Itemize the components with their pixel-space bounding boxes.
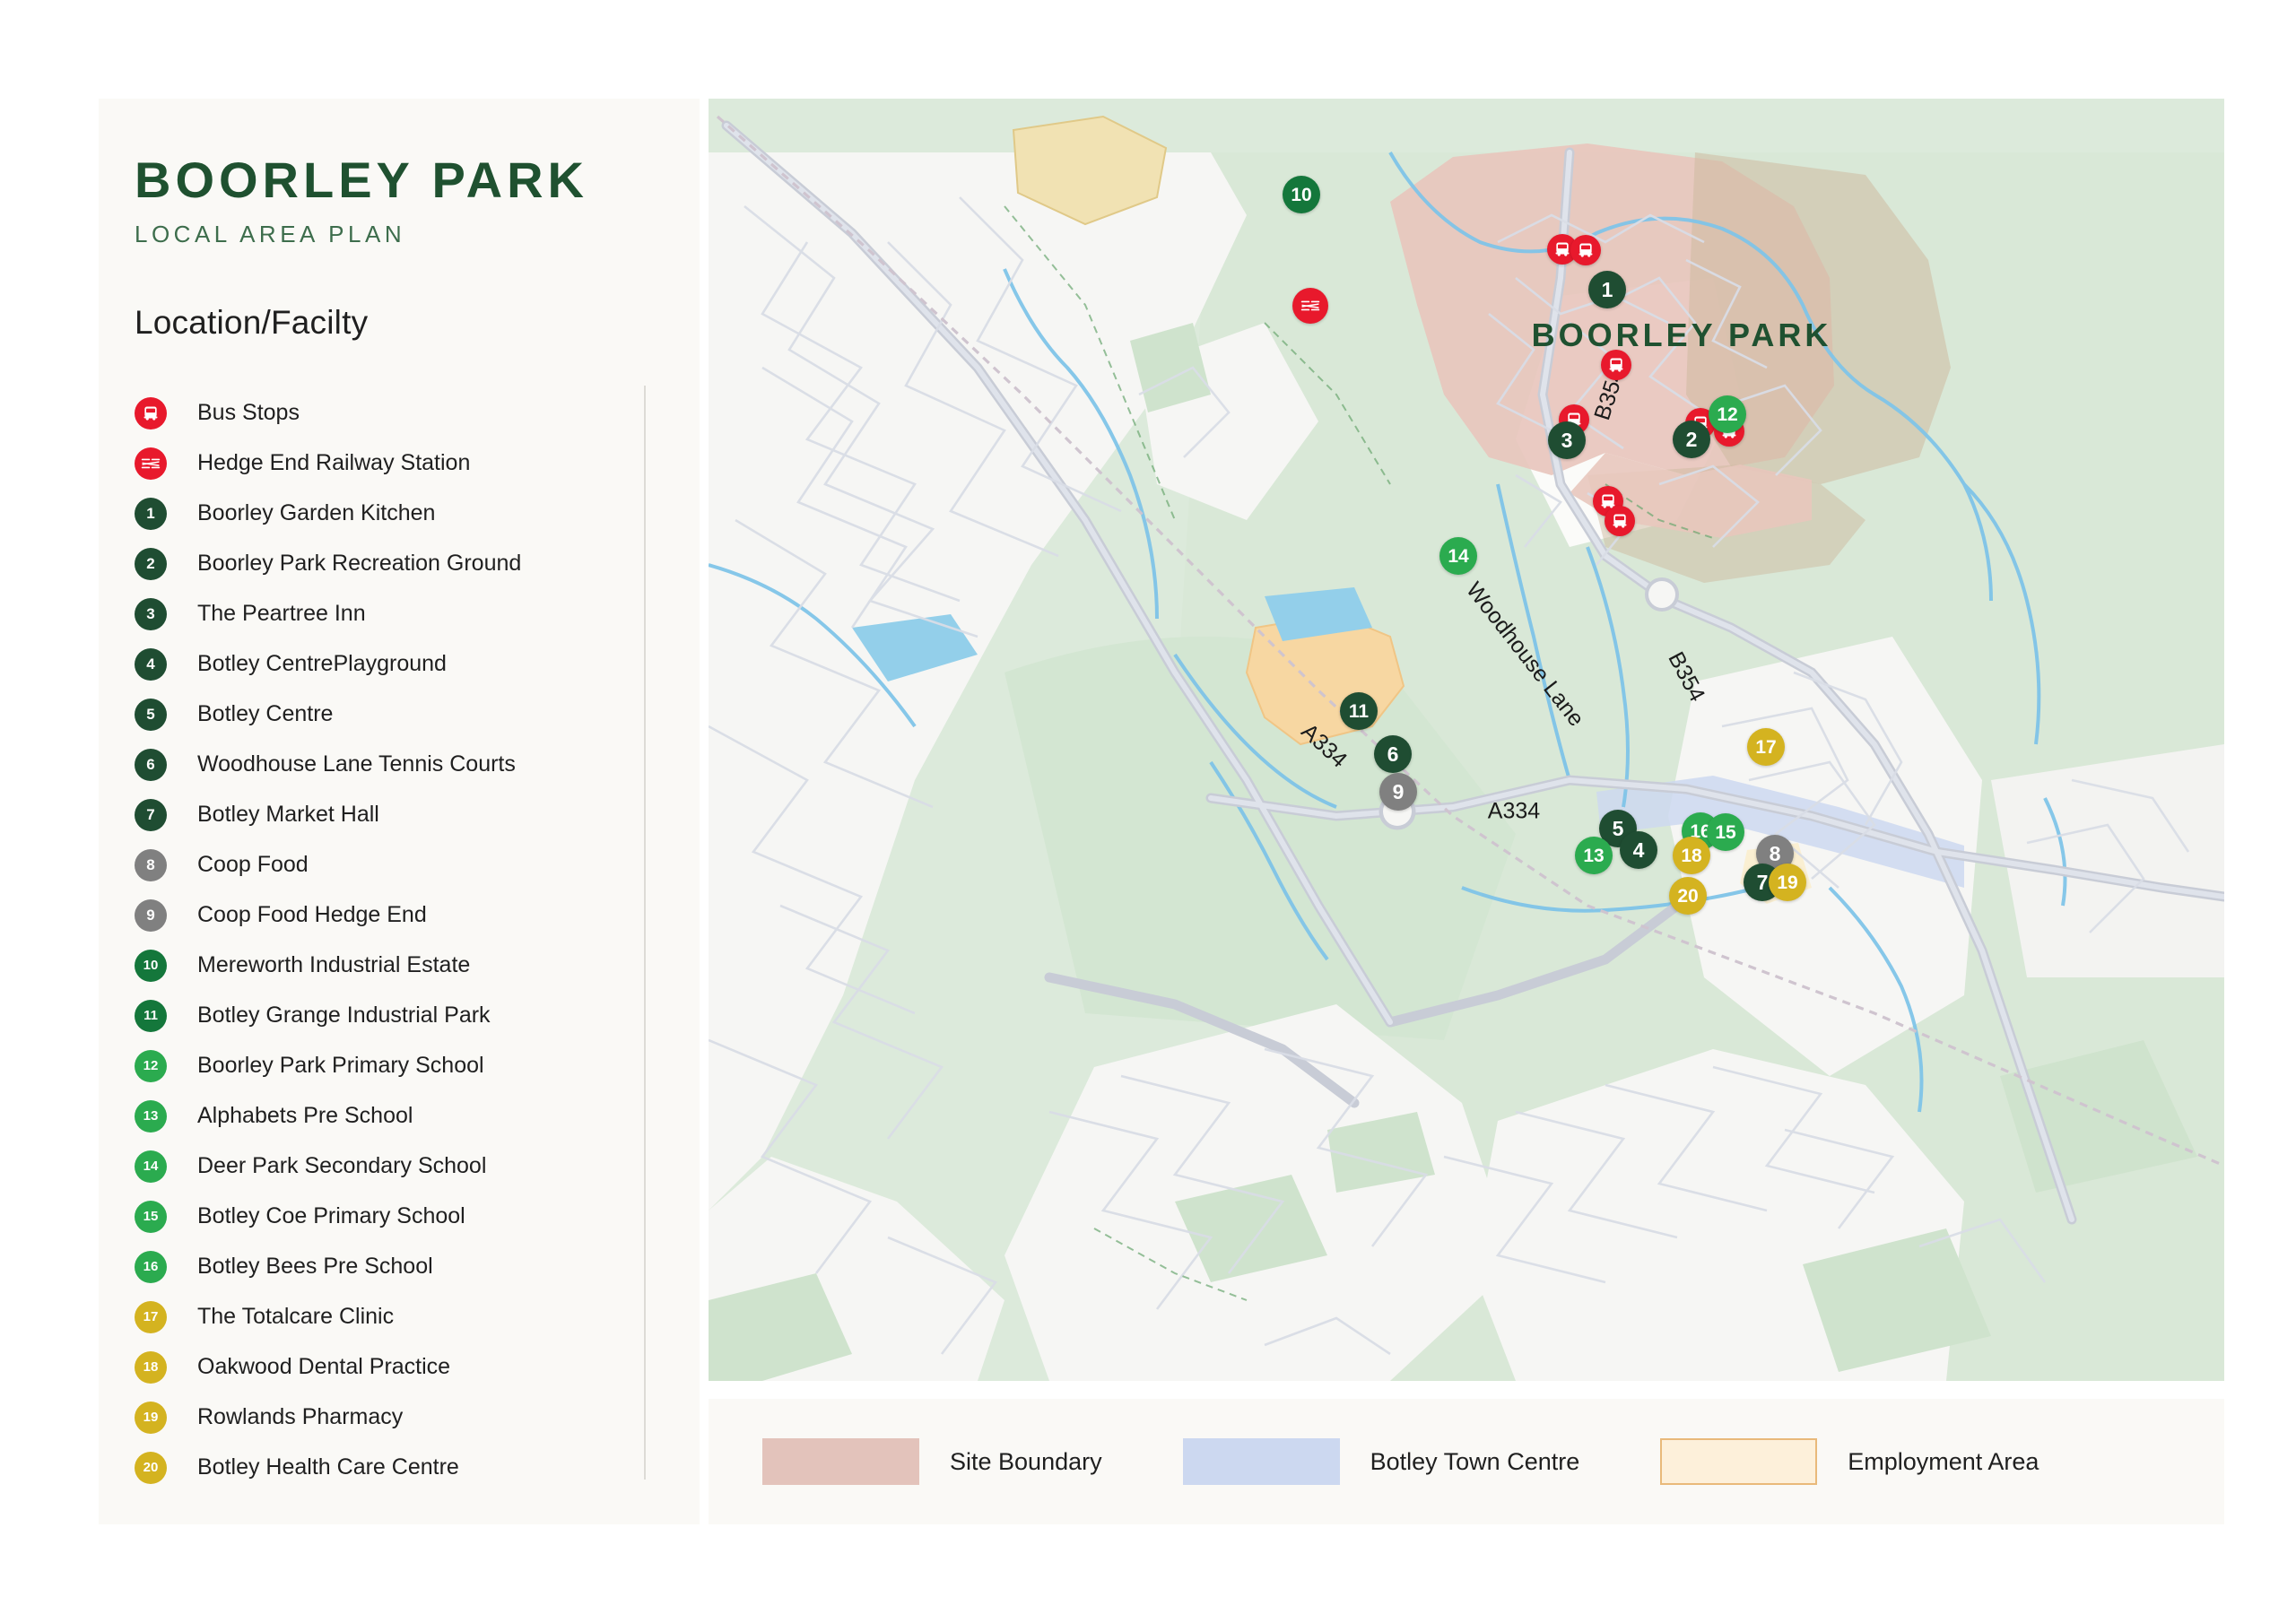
map-marker-15[interactable]: 15: [1707, 813, 1744, 851]
map-marker-bus-stop-13[interactable]: [1605, 506, 1635, 536]
legend-swatch-label: Botley Town Centre: [1370, 1448, 1580, 1476]
sidebar-divider: [644, 386, 646, 1480]
legend-item-19[interactable]: 19Rowlands Pharmacy: [135, 1393, 700, 1443]
legend-item-label: Mereworth Industrial Estate: [197, 952, 470, 978]
area-legend-bar: Site BoundaryBotley Town CentreEmploymen…: [709, 1399, 2224, 1524]
legend-number-badge: 14: [135, 1150, 167, 1183]
legend-item-label: Botley Health Care Centre: [197, 1454, 459, 1480]
legend-swatch-group: Site Boundary: [762, 1438, 1102, 1485]
legend-number-badge: 8: [135, 849, 167, 881]
legend-swatch-employment-area: [1660, 1438, 1817, 1485]
legend-item-label: Boorley Park Primary School: [197, 1053, 484, 1079]
local-area-plan-page: BOORLEY PARK LOCAL AREA PLAN Location/Fa…: [0, 0, 2296, 1623]
legend-item-label: Hedge End Railway Station: [197, 450, 470, 476]
legend-number-badge: 17: [135, 1301, 167, 1333]
legend-item-7[interactable]: 7Botley Market Hall: [135, 790, 700, 840]
legend-number-badge: 6: [135, 749, 167, 781]
legend-item-label: Boorley Garden Kitchen: [197, 500, 435, 526]
legend-number-badge: 15: [135, 1201, 167, 1233]
legend-item-17[interactable]: 17The Totalcare Clinic: [135, 1292, 700, 1342]
legend-item-label: Botley Centre: [197, 701, 333, 727]
legend-item-rail[interactable]: Hedge End Railway Station: [135, 438, 700, 489]
legend-number-badge: 20: [135, 1452, 167, 1484]
legend-section-heading: Location/Facilty: [135, 304, 700, 342]
legend-swatch-label: Employment Area: [1848, 1448, 2039, 1476]
map-marker-19[interactable]: 19: [1769, 864, 1806, 901]
sidebar: BOORLEY PARK LOCAL AREA PLAN Location/Fa…: [99, 99, 700, 1524]
legend-item-18[interactable]: 18Oakwood Dental Practice: [135, 1342, 700, 1393]
map-marker-6[interactable]: 6: [1374, 735, 1412, 773]
legend-list: Bus StopsHedge End Railway Station1Boorl…: [135, 388, 700, 1493]
map-panel[interactable]: BOORLEY PARK B354Woodhouse LaneB354A334A…: [709, 99, 2224, 1381]
map-marker-11[interactable]: 11: [1340, 692, 1378, 730]
legend-item-label: Woodhouse Lane Tennis Courts: [197, 751, 516, 777]
map-marker-13[interactable]: 13: [1575, 837, 1613, 874]
legend-item-label: Botley Coe Primary School: [197, 1203, 465, 1229]
map-marker-railway-station[interactable]: [1292, 288, 1328, 324]
legend-item-1[interactable]: 1Boorley Garden Kitchen: [135, 489, 700, 539]
legend-item-15[interactable]: 15Botley Coe Primary School: [135, 1192, 700, 1242]
legend-number-badge: 3: [135, 598, 167, 630]
legend-swatch-label: Site Boundary: [950, 1448, 1102, 1476]
legend-item-16[interactable]: 16Botley Bees Pre School: [135, 1242, 700, 1292]
legend-number-badge: 18: [135, 1351, 167, 1384]
map-marker-18[interactable]: 18: [1673, 837, 1710, 874]
legend-item-12[interactable]: 12Boorley Park Primary School: [135, 1041, 700, 1091]
legend-item-label: Botley Market Hall: [197, 802, 379, 828]
map-marker-4[interactable]: 4: [1620, 831, 1657, 869]
map-marker-3[interactable]: 3: [1548, 421, 1586, 459]
legend-item-20[interactable]: 20Botley Health Care Centre: [135, 1443, 700, 1493]
map-canvas: [709, 99, 2224, 1381]
legend-number-badge: 9: [135, 899, 167, 932]
legend-item-13[interactable]: 13Alphabets Pre School: [135, 1091, 700, 1141]
legend-item-label: Rowlands Pharmacy: [197, 1404, 403, 1430]
legend-item-5[interactable]: 5Botley Centre: [135, 690, 700, 740]
legend-number-badge: 4: [135, 648, 167, 681]
map-marker-9[interactable]: 9: [1379, 773, 1417, 811]
map-marker-2[interactable]: 2: [1673, 421, 1710, 458]
legend-number-badge: 19: [135, 1402, 167, 1434]
legend-item-9[interactable]: 9Coop Food Hedge End: [135, 890, 700, 941]
legend-item-6[interactable]: 6Woodhouse Lane Tennis Courts: [135, 740, 700, 790]
legend-item-label: Deer Park Secondary School: [197, 1153, 486, 1179]
legend-item-label: Coop Food: [197, 852, 309, 878]
map-marker-10[interactable]: 10: [1283, 176, 1320, 213]
page-subtitle: LOCAL AREA PLAN: [135, 221, 700, 248]
legend-number-badge: 16: [135, 1251, 167, 1283]
legend-item-bus[interactable]: Bus Stops: [135, 388, 700, 438]
rail-icon: [135, 447, 167, 480]
legend-number-badge: 12: [135, 1050, 167, 1082]
legend-item-label: The Totalcare Clinic: [197, 1304, 394, 1330]
legend-item-label: Botley Grange Industrial Park: [197, 1002, 491, 1028]
legend-item-label: Oakwood Dental Practice: [197, 1354, 450, 1380]
legend-item-label: Alphabets Pre School: [197, 1103, 413, 1129]
legend-item-label: The Peartree Inn: [197, 601, 366, 627]
legend-number-badge: 2: [135, 548, 167, 580]
legend-item-14[interactable]: 14Deer Park Secondary School: [135, 1141, 700, 1192]
map-marker-bus-stop-1[interactable]: [1570, 235, 1601, 265]
map-marker-bus-stop-5[interactable]: [1601, 350, 1631, 380]
legend-number-badge: 5: [135, 699, 167, 731]
legend-item-11[interactable]: 11Botley Grange Industrial Park: [135, 991, 700, 1041]
legend-item-2[interactable]: 2Boorley Park Recreation Ground: [135, 539, 700, 589]
legend-item-label: Boorley Park Recreation Ground: [197, 551, 521, 577]
legend-number-badge: 10: [135, 950, 167, 982]
legend-item-3[interactable]: 3The Peartree Inn: [135, 589, 700, 639]
legend-swatch-group: Botley Town Centre: [1183, 1438, 1580, 1485]
legend-item-8[interactable]: 8Coop Food: [135, 840, 700, 890]
page-title: BOORLEY PARK: [135, 152, 700, 208]
map-marker-20[interactable]: 20: [1669, 877, 1707, 915]
bus-icon: [135, 397, 167, 430]
map-marker-1[interactable]: 1: [1588, 271, 1626, 308]
legend-item-4[interactable]: 4Botley CentrePlayground: [135, 639, 700, 690]
legend-number-badge: 11: [135, 1000, 167, 1032]
legend-swatch-group: Employment Area: [1660, 1438, 2039, 1485]
legend-item-10[interactable]: 10Mereworth Industrial Estate: [135, 941, 700, 991]
legend-number-badge: 13: [135, 1100, 167, 1133]
legend-item-label: Bus Stops: [197, 400, 300, 426]
legend-swatch-site-boundary: [762, 1438, 919, 1485]
legend-item-label: Botley CentrePlayground: [197, 651, 447, 677]
map-marker-14[interactable]: 14: [1439, 537, 1477, 575]
legend-item-label: Coop Food Hedge End: [197, 902, 427, 928]
legend-number-badge: 1: [135, 498, 167, 530]
map-marker-17[interactable]: 17: [1747, 728, 1785, 766]
legend-swatch-botley-town-centre: [1183, 1438, 1340, 1485]
map-marker-12[interactable]: 12: [1709, 395, 1746, 433]
legend-item-label: Botley Bees Pre School: [197, 1254, 433, 1280]
legend-number-badge: 7: [135, 799, 167, 831]
